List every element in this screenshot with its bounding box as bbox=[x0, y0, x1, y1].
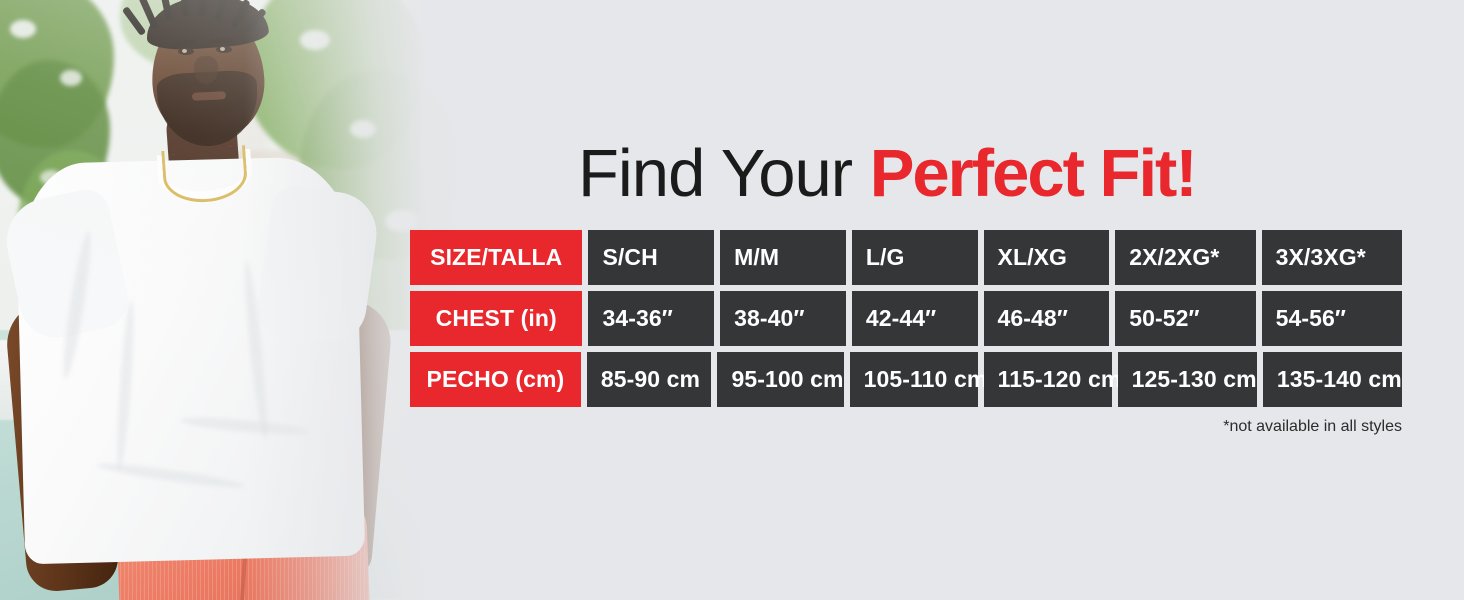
table-footnote: *not available in all styles bbox=[410, 418, 1402, 436]
headline-thin: Find Your bbox=[578, 136, 870, 211]
page-title: Find Your Perfect Fit! bbox=[578, 140, 1196, 207]
cell-chest-m: 38-40″ bbox=[720, 291, 846, 346]
size-chart-banner: Find Your Perfect Fit! SIZE/TALLA S/CH M… bbox=[0, 0, 1464, 600]
cell-chest-l: 42-44″ bbox=[852, 291, 978, 346]
row-header-chest-in: CHEST (in) bbox=[410, 291, 582, 346]
cell-size-2x: 2X/2XG* bbox=[1115, 230, 1255, 285]
cell-chest-xl: 46-48″ bbox=[984, 291, 1110, 346]
cell-chest-3x: 54-56″ bbox=[1262, 291, 1402, 346]
table-row: SIZE/TALLA S/CH M/M L/G XL/XG 2X/2XG* 3X… bbox=[410, 230, 1402, 285]
size-chart-table: SIZE/TALLA S/CH M/M L/G XL/XG 2X/2XG* 3X… bbox=[410, 230, 1402, 407]
cell-size-3x: 3X/3XG* bbox=[1262, 230, 1402, 285]
cell-pecho-xl: 115-120 cm bbox=[984, 352, 1112, 407]
cell-chest-2x: 50-52″ bbox=[1115, 291, 1255, 346]
content-panel: Find Your Perfect Fit! SIZE/TALLA S/CH M… bbox=[410, 0, 1464, 600]
row-header-pecho-cm: PECHO (cm) bbox=[410, 352, 581, 407]
lifestyle-photo bbox=[0, 0, 470, 600]
cell-pecho-m: 95-100 cm bbox=[717, 352, 843, 407]
table-row: CHEST (in) 34-36″ 38-40″ 42-44″ 46-48″ 5… bbox=[410, 291, 1402, 346]
cell-pecho-3x: 135-140 cm bbox=[1263, 352, 1402, 407]
table-row: PECHO (cm) 85-90 cm 95-100 cm 105-110 cm… bbox=[410, 352, 1402, 407]
cell-pecho-s: 85-90 cm bbox=[587, 352, 712, 407]
cell-size-xl: XL/XG bbox=[984, 230, 1110, 285]
cell-size-s: S/CH bbox=[588, 230, 714, 285]
photo-fade-overlay bbox=[0, 0, 470, 600]
row-header-size: SIZE/TALLA bbox=[410, 230, 582, 285]
photo-scene bbox=[0, 0, 470, 600]
cell-size-m: M/M bbox=[720, 230, 846, 285]
cell-pecho-2x: 125-130 cm bbox=[1118, 352, 1257, 407]
cell-pecho-l: 105-110 cm bbox=[850, 352, 978, 407]
headline-bold: Perfect Fit! bbox=[870, 136, 1196, 211]
cell-size-l: L/G bbox=[852, 230, 978, 285]
cell-chest-s: 34-36″ bbox=[588, 291, 714, 346]
